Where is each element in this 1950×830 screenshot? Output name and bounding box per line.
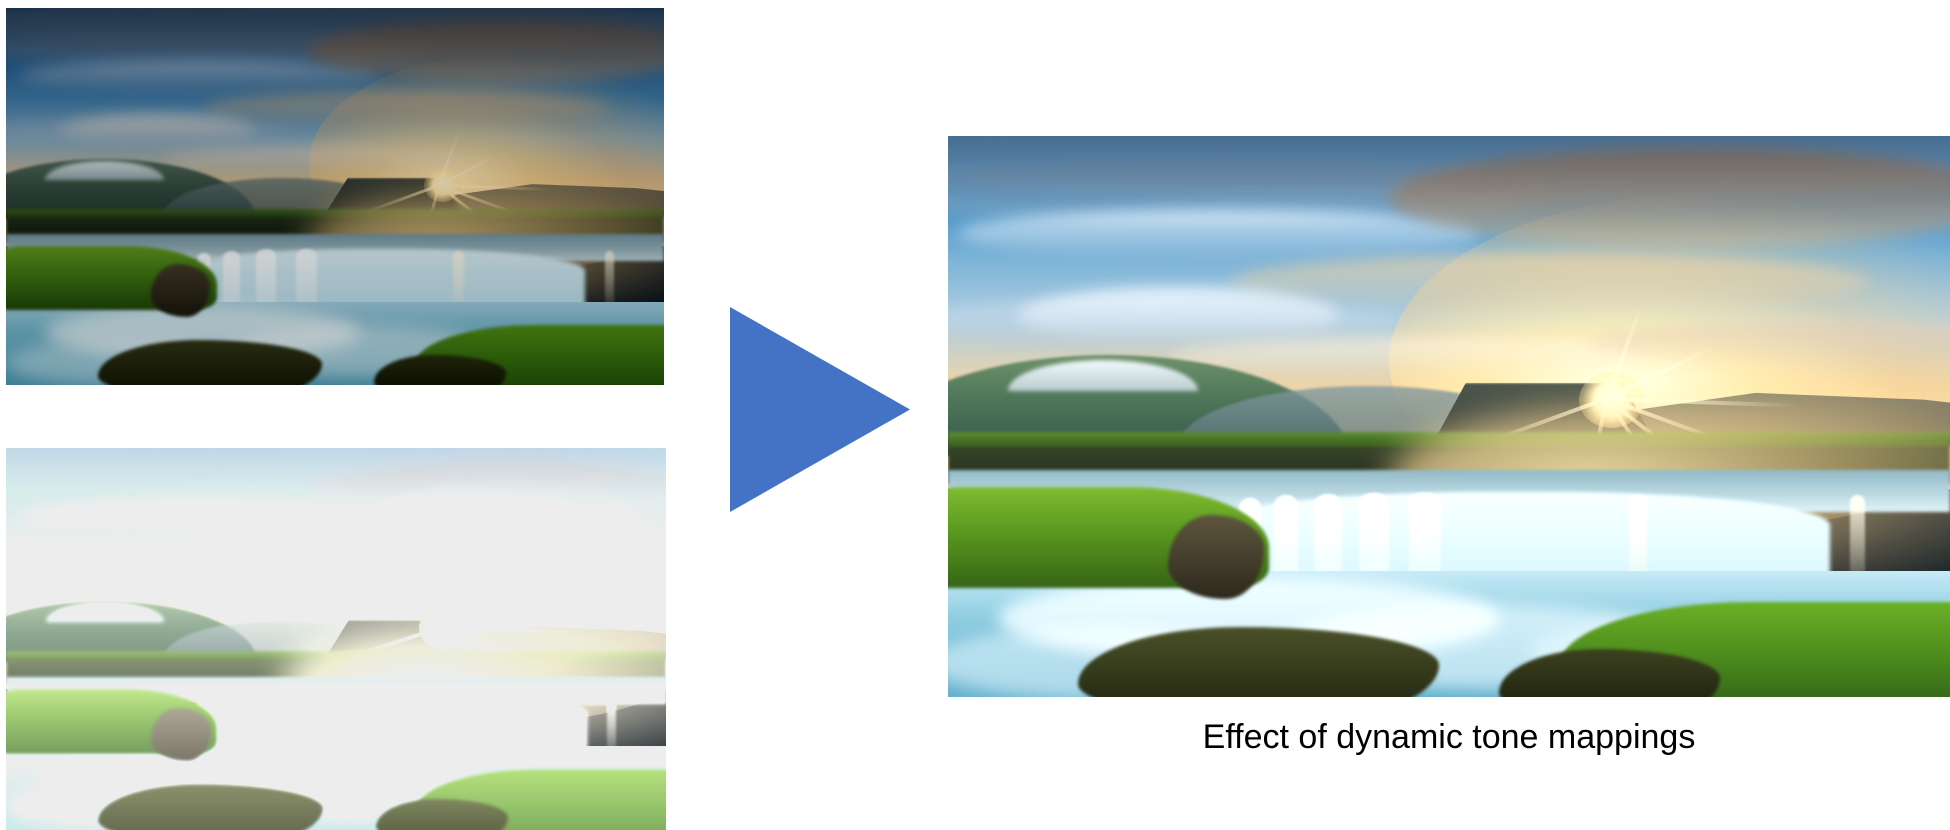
cloud-band xyxy=(19,501,382,532)
waterfall-streak xyxy=(607,694,616,751)
cloud-band xyxy=(203,91,611,125)
scene-layers xyxy=(6,448,666,830)
cloud-band xyxy=(1229,254,1870,310)
waterfall-streak xyxy=(605,251,614,308)
flow-arrow xyxy=(730,307,910,512)
cliff-face-left xyxy=(151,708,210,761)
right-pointing-triangle-icon xyxy=(730,307,910,512)
image-input-overexposed xyxy=(6,448,666,830)
cloud-band xyxy=(59,114,256,148)
scene-layers xyxy=(6,8,664,385)
cloud-band xyxy=(19,61,381,91)
image-output-tonemapped xyxy=(948,136,1950,697)
cloud-band xyxy=(164,147,467,170)
figure-canvas: Effect of dynamic tone mappings xyxy=(0,0,1950,830)
cliff-face-left xyxy=(1168,515,1263,599)
scene-layers xyxy=(948,136,1950,697)
image-input-underexposed xyxy=(6,8,664,385)
cloud-band xyxy=(1018,287,1339,343)
cliff-face-left xyxy=(151,264,210,317)
cloud-band xyxy=(59,555,257,589)
cloud-band xyxy=(958,209,1479,259)
figure-caption: Effect of dynamic tone mappings xyxy=(948,719,1950,756)
